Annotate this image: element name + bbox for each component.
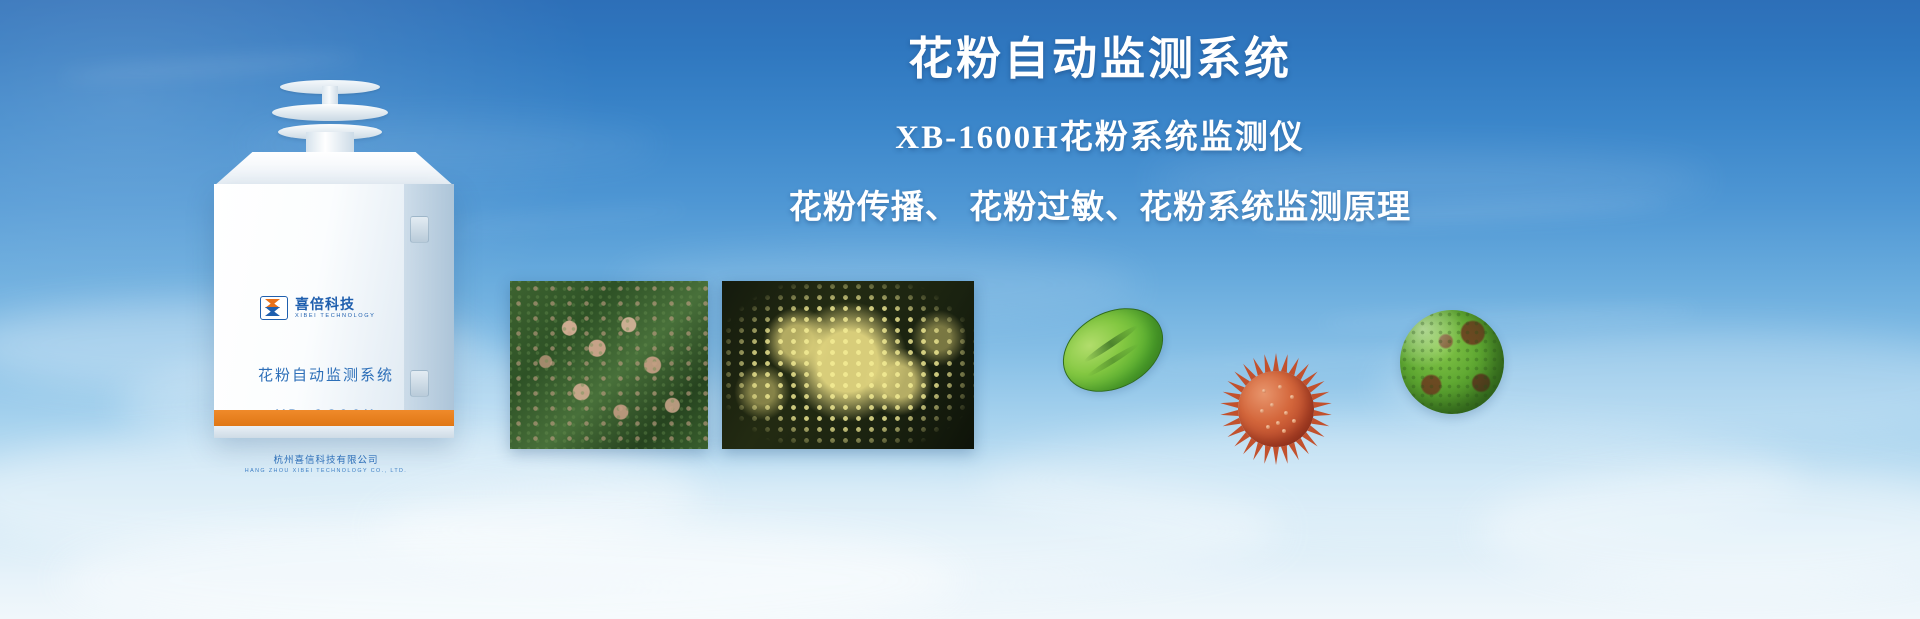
device-inlet-disc bbox=[272, 104, 388, 121]
textured-green-grain bbox=[1400, 310, 1504, 414]
spiky-grain-spine bbox=[1220, 400, 1239, 408]
device-brand-text: 喜倍科技 XIBEI TECHNOLOGY bbox=[295, 297, 376, 320]
spiky-grain-spine bbox=[1281, 446, 1291, 465]
spiky-grain-spine bbox=[1273, 353, 1279, 371]
device-left-edge bbox=[214, 184, 216, 438]
banner-headline: 花粉自动监测系统 bbox=[600, 34, 1600, 84]
device-brand-logo: 喜倍科技 XIBEI TECHNOLOGY bbox=[260, 296, 376, 320]
device-brand-en: XIBEI TECHNOLOGY bbox=[295, 314, 376, 320]
banner-stage: 花粉自动监测系统 XB-1600H花粉系统监测仪 花粉传播、 花粉过敏、花粉系统… bbox=[0, 0, 1920, 619]
spiky-grain-spine bbox=[1313, 400, 1332, 408]
device-orange-base-strip bbox=[214, 410, 454, 426]
cone-texture bbox=[510, 281, 708, 449]
spiky-grain-spine bbox=[1273, 447, 1279, 465]
banner-subheadline: XB-1600H花粉系统监测仪 bbox=[600, 110, 1600, 158]
device-brand-cn: 喜倍科技 bbox=[295, 297, 376, 311]
device-company-cn: 杭州喜信科技有限公司 bbox=[214, 452, 438, 466]
catkin-texture bbox=[722, 281, 974, 449]
xibei-logo-icon bbox=[260, 296, 288, 320]
banner-tagline: 花粉传播、 花粉过敏、花粉系统监测原理 bbox=[600, 180, 1600, 228]
device-latch-upper bbox=[410, 216, 429, 243]
device-latch-lower bbox=[410, 370, 429, 397]
spiky-grain-spine bbox=[1311, 389, 1330, 400]
device-foot bbox=[214, 426, 454, 438]
cypress-cones-photo bbox=[510, 281, 708, 449]
spiky-grain-spine bbox=[1261, 354, 1271, 373]
spiky-red-grain bbox=[1222, 355, 1330, 463]
device-top-plate bbox=[214, 152, 454, 186]
spiky-grain-spine bbox=[1220, 410, 1239, 418]
headline-block: 花粉自动监测系统 XB-1600H花粉系统监测仪 花粉传播、 花粉过敏、花粉系统… bbox=[600, 34, 1600, 228]
spiky-grain-spine bbox=[1313, 410, 1332, 418]
device-company-en: HANG ZHOU XIBEI TECHNOLOGY CO., LTD. bbox=[214, 468, 438, 474]
spiky-grain-spine bbox=[1261, 446, 1271, 465]
pollen-monitor-device: 喜倍科技 XIBEI TECHNOLOGY 花粉自动监测系统 XB-1600H … bbox=[196, 80, 476, 440]
catkin-photo bbox=[722, 281, 974, 449]
